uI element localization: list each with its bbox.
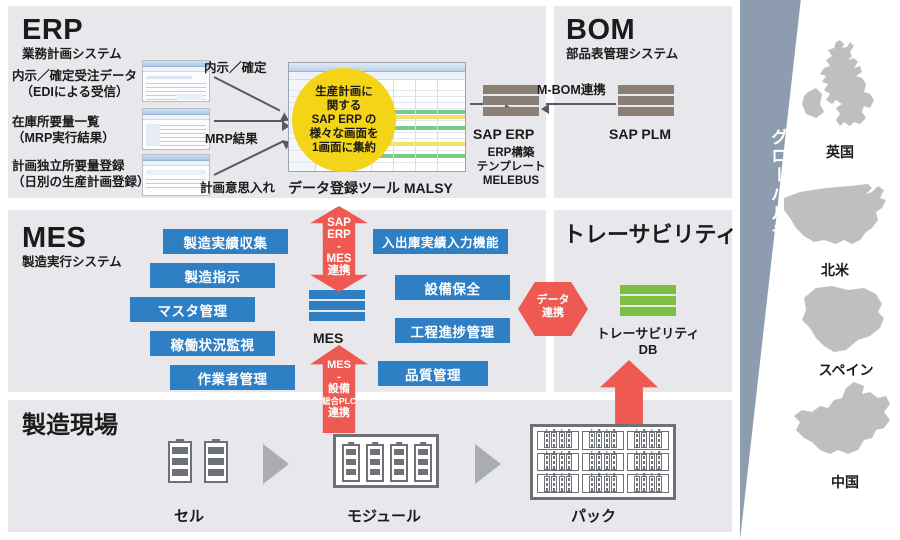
battery-cell-icon <box>634 454 640 470</box>
battery-cell-icon <box>566 454 572 470</box>
battery-cell-icon <box>656 432 662 448</box>
pack-module <box>582 431 624 450</box>
battery-cell-icon <box>544 476 550 492</box>
battery-cell-icon <box>656 454 662 470</box>
map-spain-label: スペイン <box>796 360 896 380</box>
mes-db-label: MES <box>313 330 343 346</box>
traceability-db-icon <box>620 285 676 316</box>
battery-cell-icon <box>604 454 610 470</box>
screenshot-thumbnail-2 <box>142 108 210 150</box>
pack-module <box>537 474 579 493</box>
battery-cell-icon <box>649 454 655 470</box>
mes-chip-production-results[interactable]: 製造実績収集 <box>163 229 288 254</box>
flow-triangle-icon <box>263 444 289 484</box>
battery-cell-icon <box>559 476 565 492</box>
map-uk: 英国 <box>792 38 888 158</box>
battery-cell-icon <box>634 476 640 492</box>
battery-cell-icon <box>342 444 360 482</box>
battery-cell-icon <box>656 476 662 492</box>
map-north-america-shape <box>780 178 890 258</box>
battery-cell-icon <box>641 454 647 470</box>
traceability-db-label: トレーサビリティ DB <box>586 326 710 358</box>
diagram-root: ERP 業務計画システム 内示／確定受注データ （EDIによる受信） 在庫所要量… <box>0 0 900 540</box>
map-north-america: 北米 <box>780 178 890 288</box>
erp-input-label-3: 計画独立所要量登録 （日別の生産計画登録） <box>12 158 150 190</box>
thumbnail-body <box>143 72 209 101</box>
erp-input-3-line2: （日別の生産計画登録） <box>12 174 150 190</box>
malsy-callout-circle: 生産計画に 関する SAP ERP の 様々な画面を 1画面に集約 <box>292 68 396 172</box>
battery-cell-icon <box>604 432 610 448</box>
malsy-caption: データ登録ツール MALSY <box>288 178 453 198</box>
mes-title: MES <box>22 224 86 253</box>
erp-input-label-1: 内示／確定受注データ （EDIによる受信） <box>12 68 137 100</box>
battery-cell-icon <box>589 454 595 470</box>
arrow-label-keikaku: 計画意思入れ <box>200 177 275 196</box>
arrow-data-link-label: データ 連携 <box>518 294 588 320</box>
arrow-line-mrp <box>214 120 284 122</box>
battery-cell-icon <box>544 432 550 448</box>
flow-triangle-icon <box>475 444 501 484</box>
battery-cell-icon <box>168 441 192 483</box>
erp-input-1-line1: 内示／確定受注データ <box>12 68 137 84</box>
battery-cell-icon <box>611 454 617 470</box>
battery-cell-icon <box>589 476 595 492</box>
malsy-titlebar <box>289 63 465 72</box>
battery-cell-icon <box>366 444 384 482</box>
battery-cell-icon <box>634 432 640 448</box>
map-china-shape <box>790 380 900 470</box>
screenshot-thumbnail-1 <box>142 60 210 102</box>
erp-title: ERP <box>22 16 83 45</box>
pack-module <box>537 431 579 450</box>
erp-input-3-line1: 計画独立所要量登録 <box>12 158 150 174</box>
floor-title: 製造現場 <box>22 414 118 438</box>
battery-pack-icon <box>530 424 676 500</box>
map-spain-shape <box>796 282 896 360</box>
mes-chip-master-management[interactable]: マスタ管理 <box>130 297 255 322</box>
floor-stage-label-module: モジュール <box>347 505 421 526</box>
mes-chip-process-progress[interactable]: 工程進捗管理 <box>395 318 510 343</box>
erp-input-2-line1: 在庫所要量一覧 <box>12 114 115 130</box>
mbom-link-label: M-BOM連携 <box>537 79 606 98</box>
map-uk-shape <box>792 38 888 142</box>
erp-input-2-line2: （MRP実行結果） <box>12 130 115 146</box>
trace-title: トレーサビリティ <box>563 224 737 246</box>
battery-cell-icon <box>649 476 655 492</box>
battery-cell-icon <box>390 444 408 482</box>
mes-db-icon <box>309 290 365 321</box>
erp-subtitle: 業務計画システム <box>22 48 122 61</box>
sap-erp-label: SAP ERP <box>473 126 534 142</box>
battery-cell-icon <box>566 476 572 492</box>
battery-cell-icon <box>596 454 602 470</box>
map-china-label: 中国 <box>790 472 900 492</box>
sap-erp-db-icon <box>483 85 539 116</box>
battery-cell-icon <box>566 432 572 448</box>
battery-cell-icon <box>589 432 595 448</box>
battery-module-icon <box>333 434 439 488</box>
arrow-mes-equipment-tail: 連携 <box>328 407 350 419</box>
global-template-band: グローバルテンプレート展開 英国 北米 スペイン 中国 <box>740 0 900 540</box>
thumbnail-body <box>143 120 209 149</box>
battery-cell-icon <box>641 476 647 492</box>
pack-module <box>582 453 624 472</box>
floor-stage-label-pack: パック <box>571 505 616 526</box>
floor-stage-label-cell: セル <box>174 505 204 526</box>
pack-module <box>627 431 669 450</box>
battery-cell-icon <box>641 432 647 448</box>
battery-cell-icon <box>551 432 557 448</box>
battery-cell-icon <box>649 432 655 448</box>
pack-module <box>582 474 624 493</box>
battery-cell-icon <box>611 476 617 492</box>
arrow-label-mrp: MRP結果 <box>205 128 258 147</box>
mes-chip-quality-management[interactable]: 品質管理 <box>378 361 488 386</box>
battery-cell-icon <box>551 454 557 470</box>
battery-cell-icon <box>544 454 550 470</box>
pack-module <box>627 474 669 493</box>
battery-cell-icon <box>611 432 617 448</box>
sap-erp-note: ERP構築 テンプレート MELEBUS <box>466 146 556 188</box>
arrow-mes-equipment-main: MES - 設備 <box>327 359 351 395</box>
bom-title: BOM <box>566 16 635 45</box>
mes-subtitle: 製造実行システム <box>22 256 122 269</box>
map-uk-label: 英国 <box>792 142 888 162</box>
map-china: 中国 <box>790 380 900 500</box>
mes-chip-worker-management[interactable]: 作業者管理 <box>170 365 295 390</box>
arrow-label-naiji: 内示／確定 <box>204 57 267 76</box>
mes-chip-warehouse-input[interactable]: 入出庫実績入力機能 <box>373 229 508 254</box>
arrow-head-mbom <box>541 104 549 114</box>
sap-plm-label: SAP PLM <box>609 126 671 142</box>
erp-input-label-2: 在庫所要量一覧 （MRP実行結果） <box>12 114 115 146</box>
battery-cell-icon <box>596 432 602 448</box>
arrow-line-mbom <box>546 103 616 105</box>
pack-module <box>537 453 579 472</box>
battery-cell-icon <box>559 454 565 470</box>
mes-chip-production-order[interactable]: 製造指示 <box>150 263 275 288</box>
mes-chip-equipment-maintenance[interactable]: 設備保全 <box>395 275 510 300</box>
battery-cell-icon <box>604 476 610 492</box>
malsy-callout-text: 生産計画に 関する SAP ERP の 様々な画面を 1画面に集約 <box>310 85 379 155</box>
bom-subtitle: 部品表管理システム <box>566 48 678 61</box>
erp-input-1-line2: （EDIによる受信） <box>12 84 137 100</box>
battery-cell-icon <box>559 432 565 448</box>
sap-plm-db-icon <box>618 85 674 116</box>
battery-cell-icon <box>551 476 557 492</box>
mes-chip-operation-monitor[interactable]: 稼働状況監視 <box>150 331 275 356</box>
map-spain: スペイン <box>796 282 896 392</box>
battery-cell-icon <box>596 476 602 492</box>
battery-cell-icon <box>414 444 432 482</box>
pack-module <box>627 453 669 472</box>
battery-cell-icon <box>204 441 228 483</box>
map-north-america-label: 北米 <box>780 260 890 280</box>
